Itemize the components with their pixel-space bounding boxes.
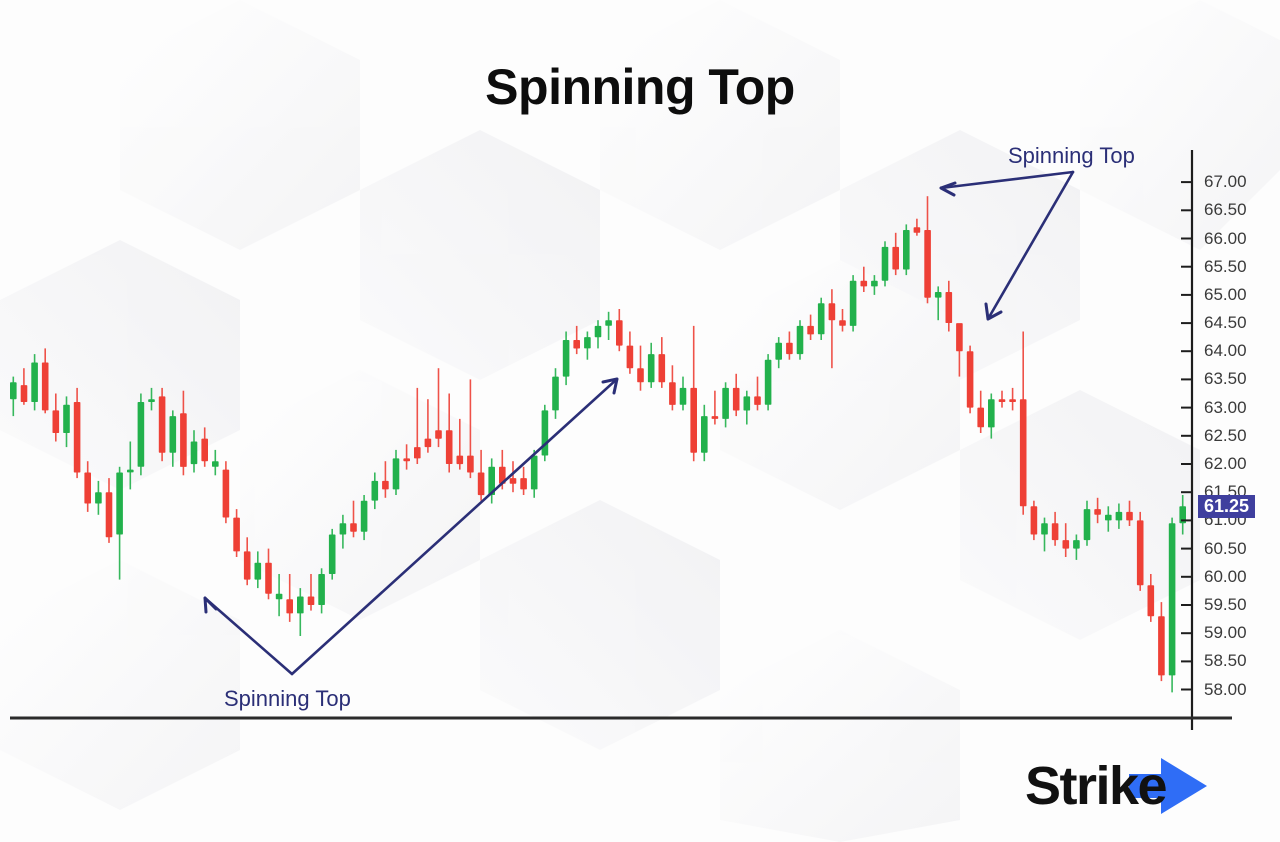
candle-body [95,492,102,503]
candle-body [170,416,177,453]
candle-body [425,439,432,448]
candle-body [914,227,921,233]
candle-body [276,594,283,600]
arrow-line-top-left [941,172,1073,188]
chart-page: Spinning Top 67.0066.5066.0065.5065.0064… [0,0,1280,842]
candle-body [627,346,634,369]
candle-body [595,326,602,337]
candle-body [690,388,697,453]
annotation-label-bottom: Spinning Top [224,686,351,712]
y-axis-tick-label: 64.50 [1204,313,1247,333]
candle-body [637,368,644,382]
candle-body [403,458,410,461]
candle-body [435,430,442,439]
candle-body [988,399,995,427]
candle-body [329,535,336,575]
candle-body [733,388,740,411]
candle-body [201,439,208,462]
y-axis-tick-label: 65.00 [1204,285,1247,305]
candle-body [1020,399,1027,506]
candle-body [1169,523,1176,675]
y-axis-tick-label: 63.00 [1204,398,1247,418]
candle-series [10,196,1186,692]
y-axis-tick-label: 65.50 [1204,257,1247,277]
annotation-label-top: Spinning Top [1008,143,1135,169]
candle-body [892,247,899,270]
candle-body [127,470,134,473]
candle-body [946,292,953,323]
candle-body [1009,399,1016,402]
candle-body [1031,506,1038,534]
candle-body [180,413,187,467]
candle-body [21,385,28,402]
candle-body [478,473,485,496]
candle-body [138,402,145,467]
candle-body [393,458,400,489]
candle-body [680,388,687,405]
candle-body [286,599,293,613]
y-axis-tick-label: 58.00 [1204,680,1247,700]
candle-body [1105,515,1112,521]
candle-body [967,351,974,407]
candle-body [648,354,655,382]
candle-body [818,303,825,334]
candle-body [446,430,453,464]
candle-body [53,410,60,433]
candle-body [308,597,315,606]
candle-body [63,405,70,433]
y-axis [1181,150,1192,730]
candle-body [903,230,910,270]
candle-body [361,501,368,532]
candle-body [659,354,666,382]
candle-body [255,563,262,580]
candle-body [265,563,272,594]
candle-body [223,470,230,518]
candle-body [754,396,761,405]
candle-body [372,481,379,501]
y-axis-tick-label: 66.50 [1204,200,1247,220]
candle-body [573,340,580,349]
candle-body [1148,585,1155,616]
candle-body [148,399,155,402]
candle-body [584,337,591,348]
candle-body [871,281,878,287]
y-axis-tick-label: 60.50 [1204,539,1247,559]
y-axis-tick-label: 60.00 [1204,567,1247,587]
candle-body [829,303,836,320]
candle-body [797,326,804,354]
candle-body [1052,523,1059,540]
candle-body [924,230,931,298]
candle-body [212,461,219,467]
candle-body [414,447,421,458]
candlestick-chart [0,0,1280,842]
candle-body [191,442,198,465]
candle-body [1137,520,1144,585]
candle-body [775,343,782,360]
candle-body [956,323,963,351]
candle-body [31,363,38,403]
candle-body [42,363,49,411]
arrow-head-top-left [941,183,955,195]
candle-body [1041,523,1048,534]
candle-body [1126,512,1133,521]
candle-body [1084,509,1091,540]
candle-body [861,281,868,287]
candle-body [233,518,240,552]
logo-text: Strike [1025,756,1167,816]
candle-body [467,456,474,473]
candle-body [882,247,889,281]
candle-body [297,597,304,614]
candle-body [701,416,708,453]
strike-logo: Strike [1025,750,1235,822]
candle-body [722,388,729,419]
y-axis-tick-label: 62.00 [1204,454,1247,474]
candle-body [244,551,251,579]
candle-body [935,292,942,298]
candle-body [116,473,123,535]
y-axis-tick-label: 58.50 [1204,651,1247,671]
y-axis-tick-label: 62.50 [1204,426,1247,446]
candle-body [1158,616,1165,675]
candle-body [510,478,517,484]
candle-body [340,523,347,534]
candle-body [807,326,814,335]
candle-body [106,492,113,537]
y-axis-tick-label: 67.00 [1204,172,1247,192]
y-axis-tick-label: 59.50 [1204,595,1247,615]
candle-body [850,281,857,326]
candle-body [744,396,751,410]
candle-body [839,320,846,326]
candle-body [999,399,1006,402]
candle-body [977,408,984,428]
candle-body [531,456,538,490]
candle-body [563,340,570,377]
candle-body [616,320,623,345]
candle-body [84,473,91,504]
y-axis-tick-label: 66.00 [1204,229,1247,249]
candle-body [318,574,325,605]
candle-body [542,410,549,455]
y-axis-tick-label: 64.00 [1204,341,1247,361]
candle-body [74,402,81,473]
candle-body [1063,540,1070,549]
candle-body [1094,509,1101,515]
candle-body [1073,540,1080,549]
candle-body [457,456,464,465]
candle-body [159,396,166,452]
candle-body [765,360,772,405]
y-axis-tick-label: 59.00 [1204,623,1247,643]
candle-body [350,523,357,532]
y-axis-tick-label: 63.50 [1204,369,1247,389]
candle-body [10,382,17,399]
candle-body [605,320,612,326]
candle-body [786,343,793,354]
candle-body [1116,512,1123,521]
candle-body [669,382,676,405]
price-badge: 61.25 [1198,495,1255,518]
arrow-line-top-down [988,172,1073,319]
annotation-arrows [205,172,1073,674]
candle-body [712,416,719,419]
candle-body [520,478,527,489]
candle-body [382,481,389,490]
candle-body [552,377,559,411]
